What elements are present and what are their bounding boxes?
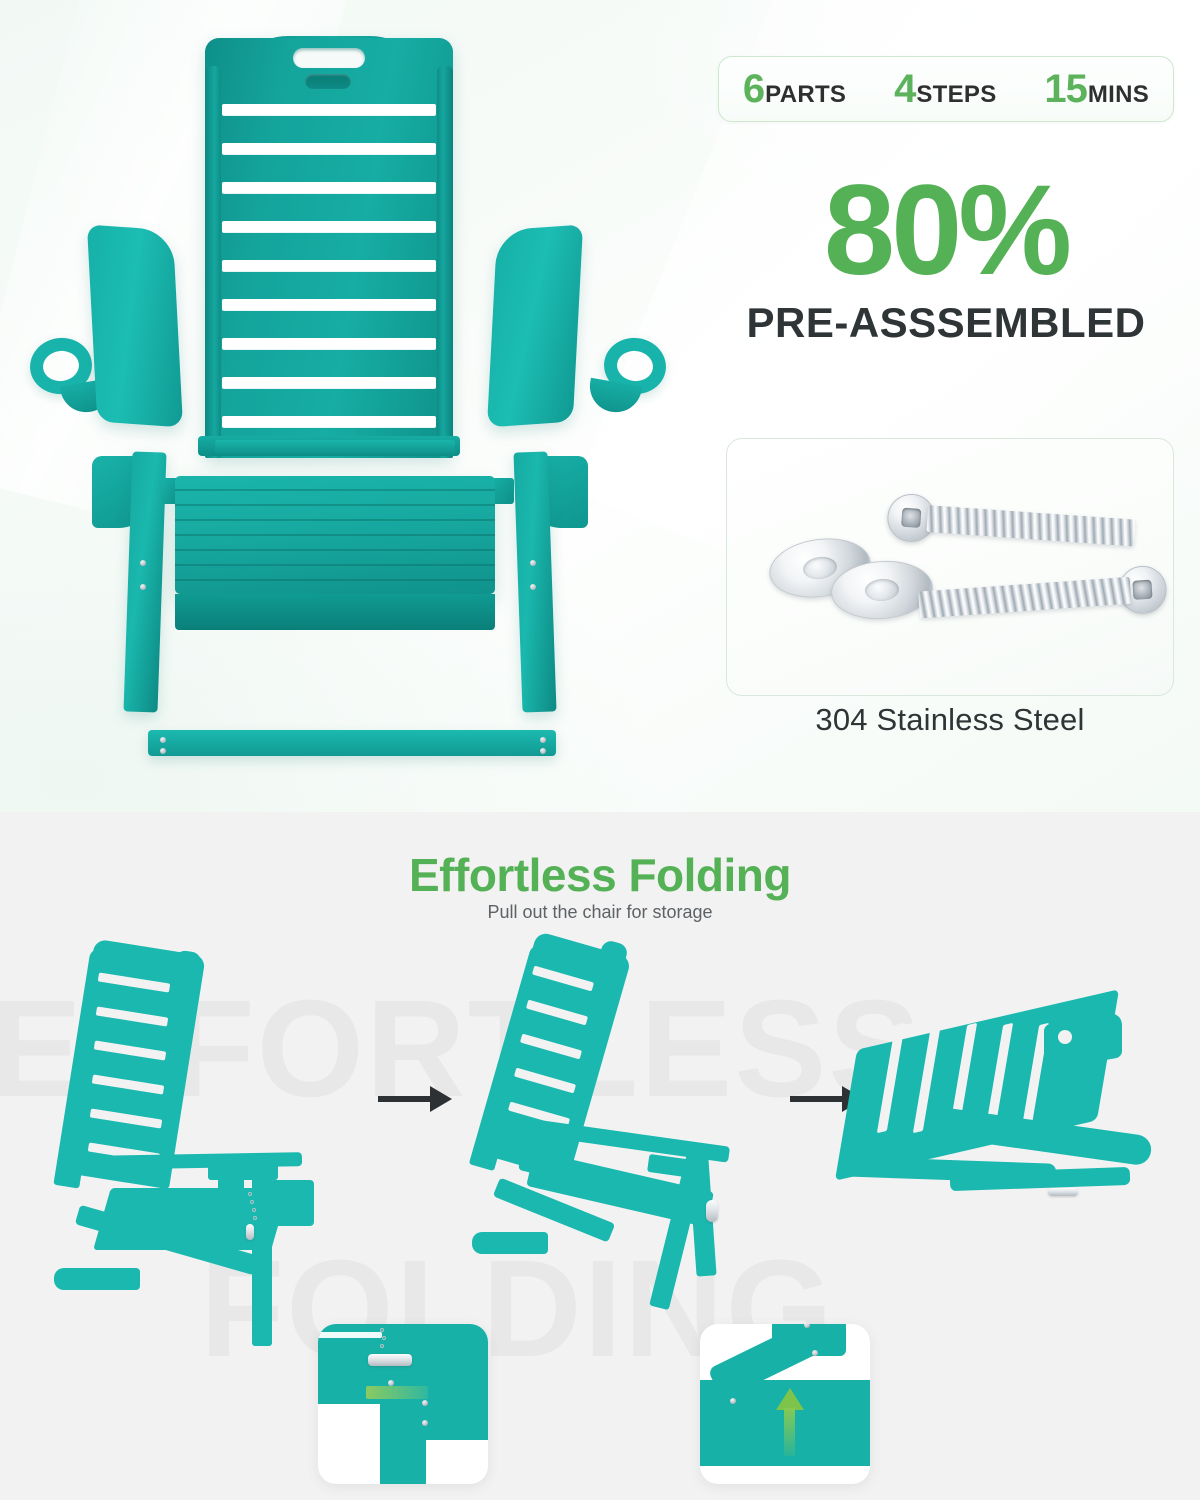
pre-assembled-block: 80% PRE-ASSSEMBLED	[718, 170, 1174, 347]
assembly-stats-badge: 6 PARTS 4 STEPS 15 MINS	[718, 56, 1174, 122]
stat-steps-unit: STEPS	[916, 83, 996, 107]
folding-subtitle: Pull out the chair for storage	[0, 902, 1200, 923]
screw-dot	[530, 560, 536, 566]
screw-dot	[140, 584, 146, 590]
back-slat-gap	[222, 377, 436, 388]
stat-mins-number: 15	[1044, 69, 1087, 109]
product-infographic: 6 PARTS 4 STEPS 15 MINS 80% PRE-ASSSEMBL…	[0, 0, 1200, 1500]
brand-logo-badge	[305, 74, 351, 89]
screw-dot	[540, 737, 546, 743]
back-slat-gap	[222, 221, 436, 232]
back-slat-gap	[222, 182, 436, 193]
exploded-view-section: 6 PARTS 4 STEPS 15 MINS 80% PRE-ASSSEMBL…	[0, 0, 1200, 812]
stat-mins: 15 MINS	[1044, 69, 1149, 109]
armrest-left	[87, 224, 183, 427]
connector-tab-right	[492, 478, 514, 504]
hardware-caption: 304 Stainless Steel	[726, 702, 1174, 738]
stat-parts: 6 PARTS	[743, 69, 846, 109]
folding-demo-section: EFFORTLESS FOLDING Effortless Folding Pu…	[0, 812, 1200, 1500]
back-slat-gap	[222, 338, 436, 349]
lift-direction-arrow	[776, 1388, 804, 1410]
bolt-icon	[885, 490, 1138, 563]
back-slat-gap	[222, 299, 436, 310]
lift-direction-arrow-stem	[784, 1408, 795, 1456]
stat-steps: 4 STEPS	[894, 69, 996, 109]
pre-assembled-label: PRE-ASSSEMBLED	[718, 299, 1174, 347]
folding-step-1-upright-chair	[40, 942, 360, 1272]
carry-handle-cutout	[293, 48, 365, 68]
stat-parts-number: 6	[743, 69, 764, 109]
screw-dot	[160, 748, 166, 754]
exploded-chair-diagram	[0, 0, 700, 812]
chair-back-panel	[205, 38, 453, 458]
pull-direction-arrow	[366, 1386, 428, 1399]
stat-parts-unit: PARTS	[765, 83, 846, 107]
callout-lift-hinge	[700, 1324, 870, 1484]
bolt-icon	[913, 562, 1168, 635]
bottom-support-bar	[148, 730, 556, 756]
back-slat-gap	[222, 416, 436, 427]
stat-steps-number: 4	[894, 69, 915, 109]
folding-step-3-folded-flat	[830, 1002, 1170, 1232]
screw-dot	[160, 737, 166, 743]
back-slat-gap	[222, 260, 436, 271]
stat-mins-unit: MINS	[1088, 83, 1149, 107]
sequence-arrow-1	[378, 1084, 452, 1114]
back-rail-right	[437, 66, 453, 458]
screw-dot	[140, 560, 146, 566]
seat-back-rail	[215, 440, 455, 454]
seat-front-apron	[175, 594, 495, 630]
armrest-right	[487, 224, 583, 427]
folding-step-2-mid-fold	[460, 942, 780, 1272]
back-slat-gap	[222, 143, 436, 154]
seat-assembly	[175, 476, 495, 594]
screw-dot	[530, 584, 536, 590]
callout-pull-pin	[318, 1324, 488, 1484]
back-slat-gap	[222, 104, 436, 115]
pre-assembled-percent: 80%	[718, 170, 1174, 293]
back-rail-left	[205, 66, 221, 458]
screw-dot	[540, 748, 546, 754]
folding-title: Effortless Folding	[0, 848, 1200, 902]
hardware-card	[726, 438, 1174, 696]
